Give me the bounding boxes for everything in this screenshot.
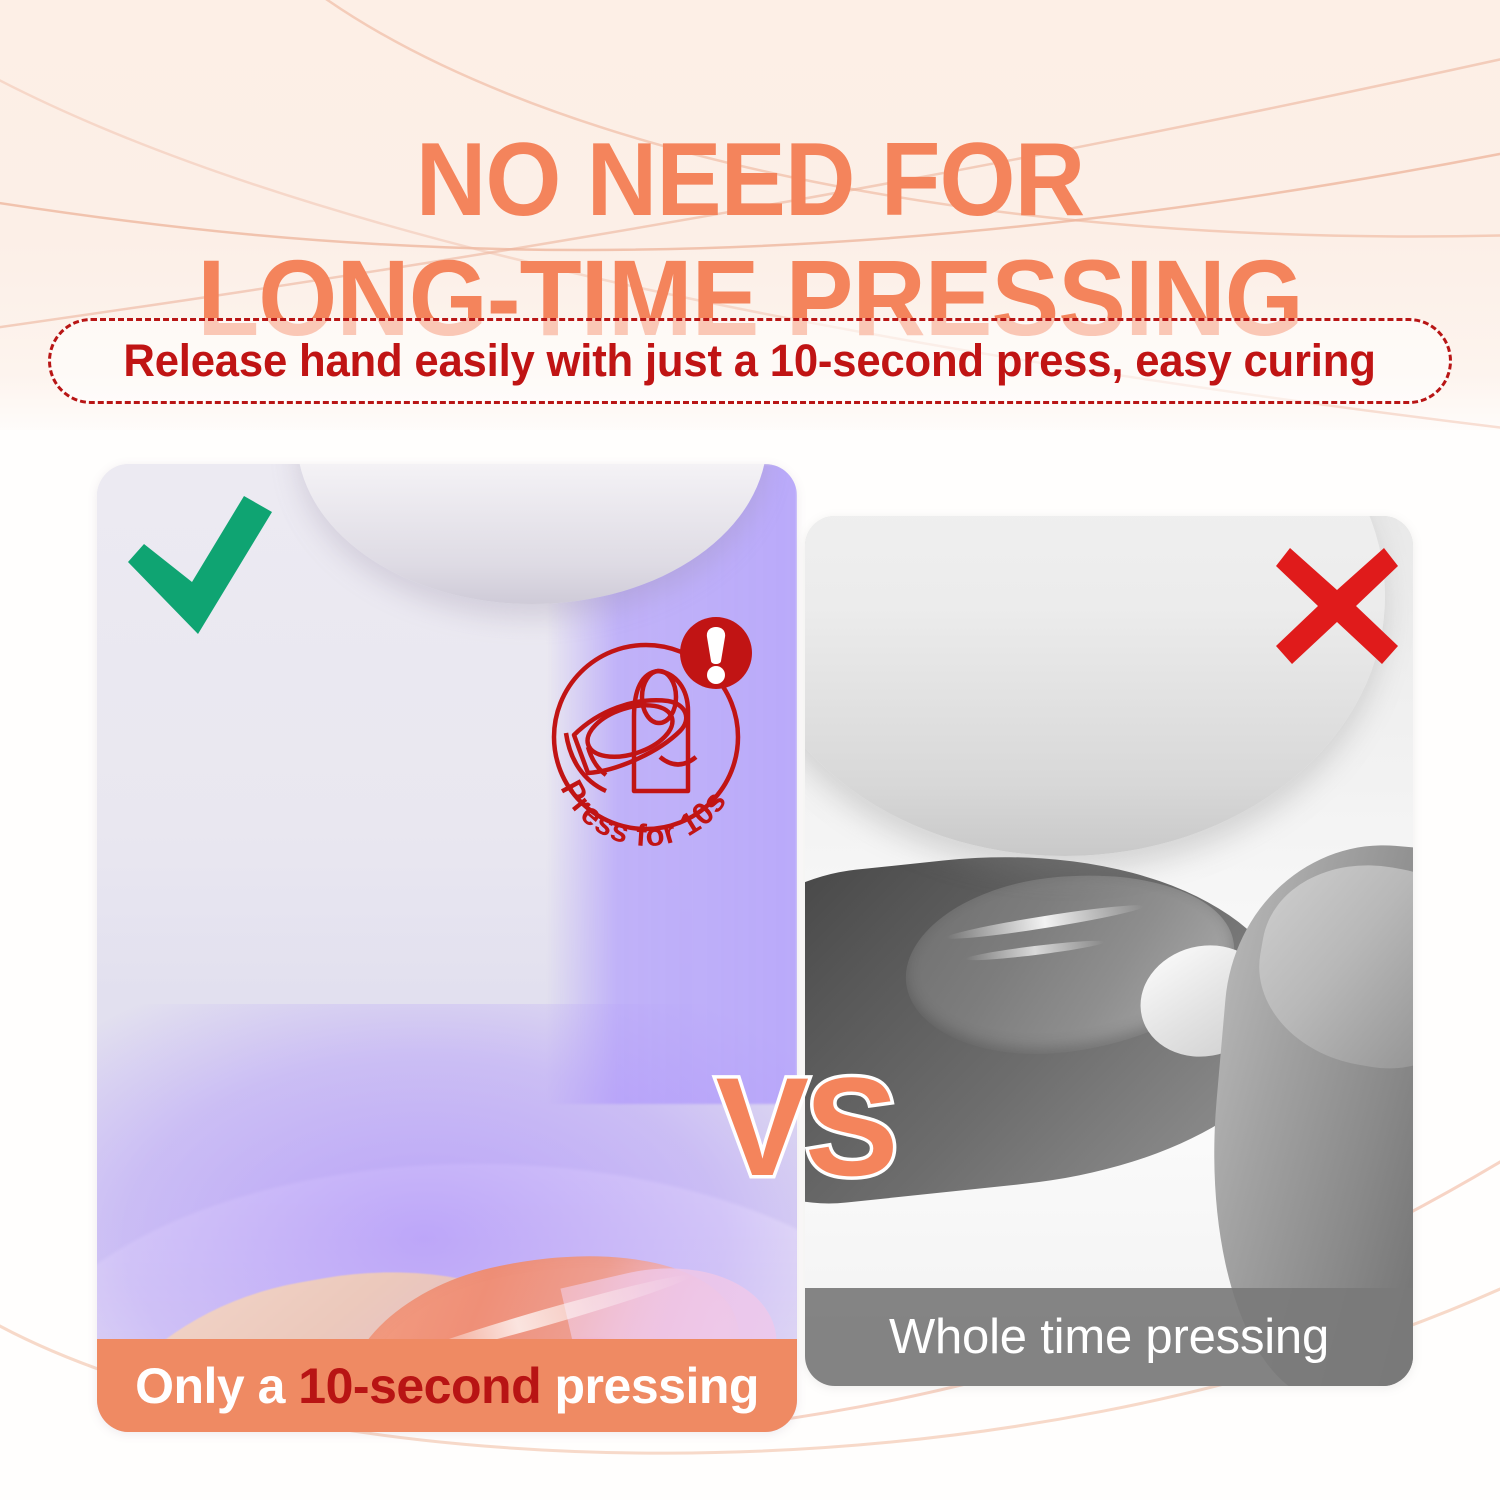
caption-good-suffix: pressing bbox=[541, 1358, 759, 1414]
vs-label: VS bbox=[700, 1052, 910, 1202]
red-x-icon bbox=[1272, 542, 1402, 668]
subtitle-text: Release hand easily with just a 10-secon… bbox=[124, 335, 1376, 387]
caption-good-text: Only a 10-second pressing bbox=[135, 1357, 759, 1415]
press-for-10s-stamp-icon: Press for 10s bbox=[526, 585, 774, 855]
headline-line-1: NO NEED FOR bbox=[416, 122, 1085, 238]
caption-bar-bad: Whole time pressing bbox=[805, 1288, 1413, 1386]
stamp-caption: Press for 10s bbox=[554, 774, 734, 853]
caption-bad-text: Whole time pressing bbox=[889, 1309, 1329, 1365]
infographic-root: NO NEED FORLONG-TIME PRESSING Release ha… bbox=[0, 0, 1500, 1500]
caption-bar-good: Only a 10-second pressing bbox=[97, 1339, 797, 1432]
caption-good-prefix: Only a bbox=[135, 1358, 298, 1414]
caption-good-highlight: 10-second bbox=[298, 1358, 541, 1414]
page-title: NO NEED FORLONG-TIME PRESSING bbox=[45, 128, 1455, 350]
svg-text:Press for 10s: Press for 10s bbox=[554, 774, 734, 853]
green-check-icon bbox=[122, 486, 312, 646]
subtitle-box: Release hand easily with just a 10-secon… bbox=[48, 318, 1452, 404]
